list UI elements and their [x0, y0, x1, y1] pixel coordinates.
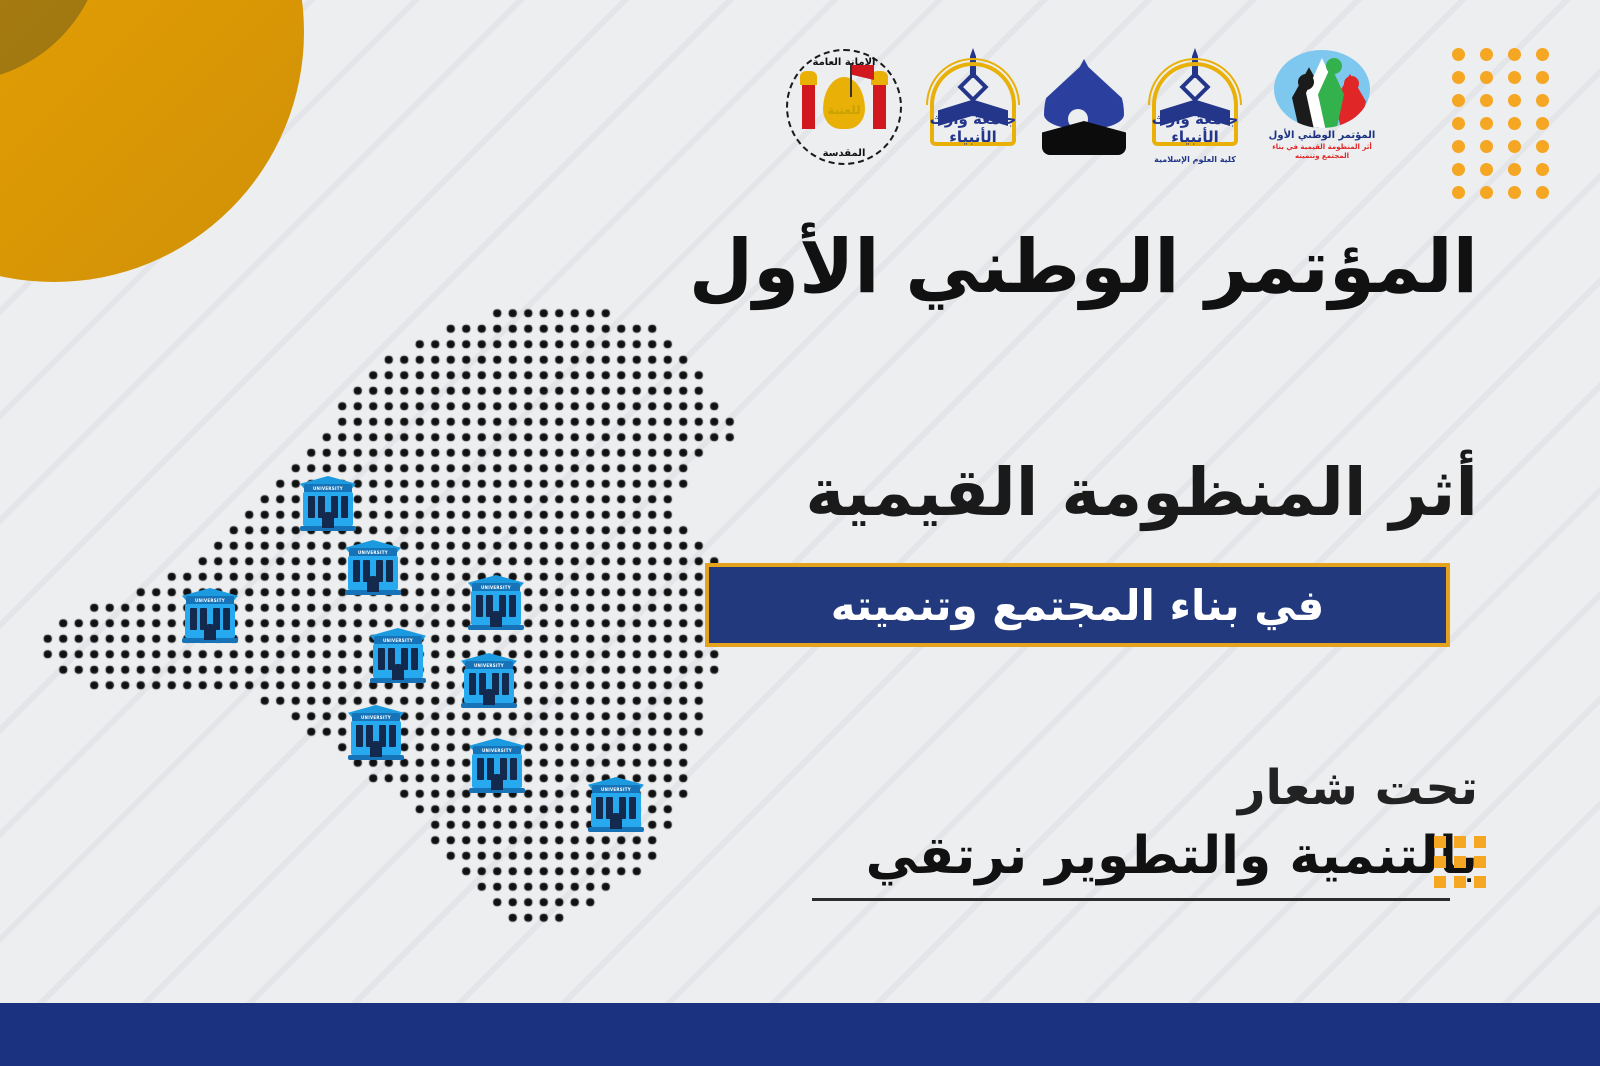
- orange-dot: [1480, 117, 1493, 130]
- university-of-warith-al-anbiyaa-logo: جامعة وارث الأنبياء: [918, 48, 1028, 166]
- university-name-ar: جامعة وارث الأنبياء: [1144, 110, 1246, 146]
- orange-dot: [1536, 186, 1549, 199]
- orange-dot: [1508, 186, 1521, 199]
- orange-dot: [1536, 94, 1549, 107]
- orange-dot: [1508, 71, 1521, 84]
- head-green-icon: [1326, 58, 1342, 74]
- shrine-logo-mid-text: للعتبة: [780, 103, 908, 117]
- university-name-ar: جامعة وارث الأنبياء: [922, 110, 1024, 146]
- motto-underline: [812, 898, 1450, 901]
- poster-canvas: الامانة العامة للعتبة المقدسة جامعة وارث…: [0, 0, 1600, 1066]
- map-marker-university[interactable]: UNIVERSITY: [588, 777, 644, 829]
- highlight-banner: في بناء المجتمع وتنميته: [705, 563, 1450, 647]
- orange-square: [1454, 836, 1466, 848]
- map-marker-university[interactable]: UNIVERSITY: [468, 575, 524, 627]
- orange-square: [1434, 876, 1446, 888]
- orange-dot-grid: [1452, 48, 1554, 199]
- orange-square: [1434, 836, 1446, 848]
- shrine-logo-top-text: الامانة العامة: [780, 57, 908, 68]
- map-marker-university[interactable]: UNIVERSITY: [345, 540, 401, 592]
- orange-dot: [1536, 117, 1549, 130]
- orange-dot: [1480, 140, 1493, 153]
- marker-door-icon: [491, 774, 503, 790]
- orange-dot: [1452, 117, 1465, 130]
- holy-husseini-shrine-logo: الامانة العامة للعتبة المقدسة: [780, 43, 908, 171]
- iraq-dotted-map: UNIVERSITYUNIVERSITYUNIVERSITYUNIVERSITY…: [40, 290, 740, 940]
- marker-door-icon: [490, 611, 502, 627]
- orange-dot: [1480, 163, 1493, 176]
- orange-dot: [1480, 48, 1493, 61]
- map-marker-university[interactable]: UNIVERSITY: [469, 738, 525, 790]
- orange-dot: [1536, 48, 1549, 61]
- marker-door-icon: [483, 689, 495, 705]
- marker-door-icon: [367, 576, 379, 592]
- orange-dot: [1452, 163, 1465, 176]
- orange-dot: [1480, 94, 1493, 107]
- map-marker-university[interactable]: UNIVERSITY: [300, 476, 356, 528]
- map-marker-university[interactable]: UNIVERSITY: [370, 628, 426, 680]
- bottom-navy-bar: [0, 1003, 1600, 1066]
- marker-door-icon: [392, 664, 404, 680]
- orange-dot: [1536, 140, 1549, 153]
- conference-logo-line2: أثر المنظومة القيمية في بناء المجتمع وتن…: [1260, 143, 1384, 161]
- blue-dome-book-logo: [1038, 57, 1130, 157]
- highlight-banner-text: في بناء المجتمع وتنميته: [831, 581, 1325, 630]
- black-book-icon: [1042, 121, 1126, 155]
- orange-dot: [1508, 140, 1521, 153]
- orange-square: [1434, 856, 1446, 868]
- orange-dot: [1480, 71, 1493, 84]
- orange-dot: [1536, 71, 1549, 84]
- conference-subtitle: أثر المنظومة القيمية: [658, 455, 1478, 531]
- orange-dot: [1452, 71, 1465, 84]
- marker-door-icon: [322, 512, 334, 528]
- orange-square: [1474, 856, 1486, 868]
- orange-dot: [1452, 48, 1465, 61]
- map-marker-university[interactable]: UNIVERSITY: [461, 653, 517, 705]
- orange-square-grid: [1434, 836, 1486, 888]
- page-title: المؤتمر الوطني الأول: [658, 225, 1478, 310]
- head-black-icon: [1298, 74, 1314, 90]
- college-name-ar: كلية العلوم الإسلامية: [1140, 155, 1250, 164]
- map-marker-university[interactable]: UNIVERSITY: [348, 705, 404, 757]
- orange-dot: [1508, 117, 1521, 130]
- marker-door-icon: [610, 813, 622, 829]
- orange-square: [1474, 876, 1486, 888]
- marker-door-icon: [370, 741, 382, 757]
- motto-text: بالتنمية والتطوير نرتقي: [658, 826, 1478, 886]
- map-dot-canvas: [40, 290, 740, 940]
- conference-logo-line1: المؤتمر الوطني الأول: [1260, 130, 1384, 141]
- map-marker-university[interactable]: UNIVERSITY: [182, 588, 238, 640]
- first-national-conference-logo: المؤتمر الوطني الأول أثر المنظومة القيمي…: [1260, 48, 1384, 166]
- shrine-logo-bottom-text: المقدسة: [780, 148, 908, 159]
- orange-dot: [1536, 163, 1549, 176]
- orange-square: [1454, 876, 1466, 888]
- orange-dot: [1480, 186, 1493, 199]
- motto-label: تحت شعار: [658, 760, 1478, 816]
- marker-door-icon: [204, 624, 216, 640]
- orange-dot: [1452, 186, 1465, 199]
- orange-dot: [1452, 140, 1465, 153]
- conference-logo-circle: [1274, 50, 1370, 128]
- orange-square: [1454, 856, 1466, 868]
- orange-dot: [1508, 94, 1521, 107]
- logo-row: الامانة العامة للعتبة المقدسة جامعة وارث…: [780, 42, 1460, 172]
- flagpole-icon: [850, 63, 852, 97]
- orange-dot: [1452, 94, 1465, 107]
- head-red-icon: [1344, 76, 1359, 91]
- orange-dot: [1508, 163, 1521, 176]
- orange-dot: [1508, 48, 1521, 61]
- orange-square: [1474, 836, 1486, 848]
- college-of-islamic-sciences-logo: جامعة وارث الأنبياء كلية العلوم الإسلامي…: [1140, 48, 1250, 166]
